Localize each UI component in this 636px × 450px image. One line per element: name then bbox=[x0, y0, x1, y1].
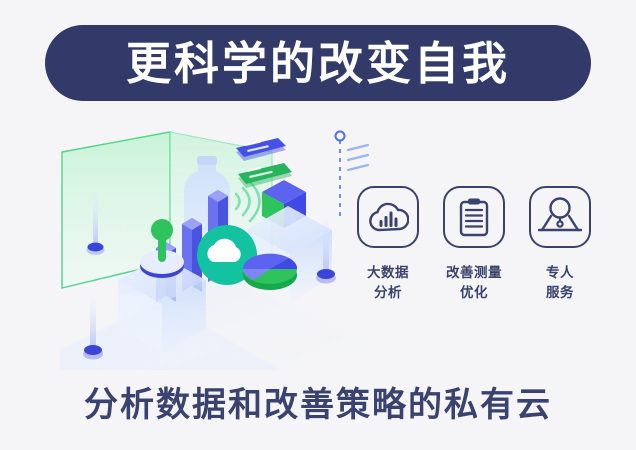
hero-illustration bbox=[40, 120, 370, 370]
pie-chart-3d bbox=[243, 254, 297, 290]
feature-list: 大数据 分析 bbox=[352, 186, 596, 303]
feature-icon-frame bbox=[443, 186, 505, 248]
feature-label-line1: 改善测量 bbox=[446, 264, 502, 284]
blue-pin-marker-bottom bbox=[83, 300, 103, 360]
feature-item-big-data-analysis[interactable]: 大数据 分析 bbox=[352, 186, 424, 303]
feature-label-line2: 分析 bbox=[367, 284, 409, 304]
illustration-svg bbox=[40, 120, 370, 370]
poster-canvas: 更科学的改变自我 bbox=[0, 0, 636, 450]
feature-label-line1: 专人 bbox=[546, 264, 574, 284]
cloud-bar-chart-icon bbox=[367, 200, 409, 234]
header-pill-banner: 更科学的改变自我 bbox=[45, 25, 591, 101]
feature-label-line2: 优化 bbox=[446, 284, 502, 304]
feature-icon-frame bbox=[357, 186, 419, 248]
feature-item-dedicated-service[interactable]: 专人 服务 bbox=[524, 186, 596, 303]
feature-icon-frame bbox=[529, 186, 591, 248]
page-title: 更科学的改变自我 bbox=[126, 41, 510, 86]
feature-item-measurement-optimization[interactable]: 改善测量 优化 bbox=[438, 186, 510, 303]
support-agent-icon bbox=[538, 197, 582, 237]
clipboard-icon bbox=[457, 197, 491, 237]
feature-label: 大数据 分析 bbox=[367, 264, 409, 303]
feature-label-line1: 大数据 bbox=[367, 264, 409, 284]
feature-label: 改善测量 优化 bbox=[446, 264, 502, 303]
feature-label-line2: 服务 bbox=[546, 284, 574, 304]
ground-plane bbox=[60, 270, 370, 370]
feature-label: 专人 服务 bbox=[546, 264, 574, 303]
footer-tagline: 分析数据和改善策略的私有云 bbox=[0, 388, 636, 422]
